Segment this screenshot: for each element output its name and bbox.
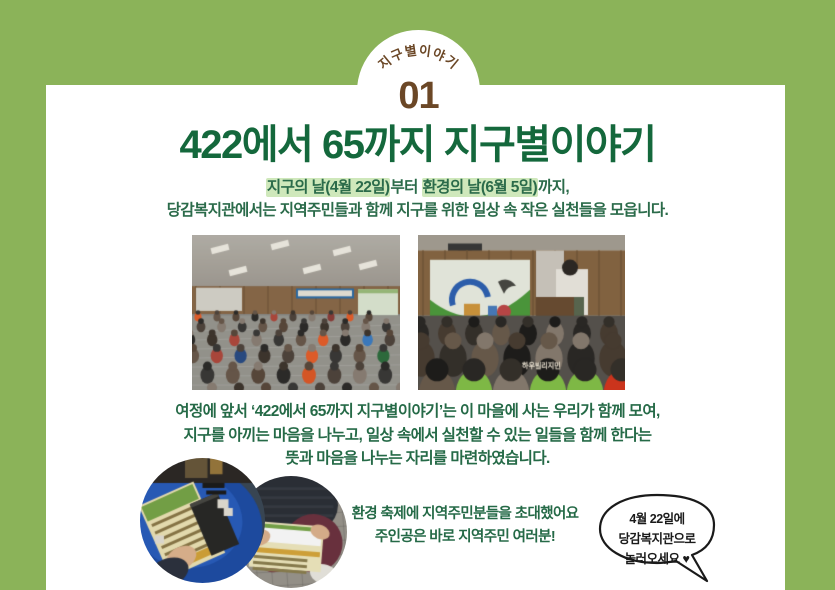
body-line-3: 뜻과 마음을 나누는 자리를 마련하였습니다. <box>0 447 835 471</box>
badge-arc-label: 지구별이야기 <box>375 43 461 73</box>
photo-auditorium-audience <box>192 235 400 390</box>
circle-photo-group <box>140 458 370 590</box>
caption-line-2: 주인공은 바로 지역주민 여러분! <box>330 526 600 549</box>
intro-line-2: 당감복지관에서는 지역주민들과 함께 지구를 위한 일상 속 작은 실천들을 모… <box>0 199 835 222</box>
body-line-2: 지구를 아끼는 마음을 나누고, 일상 속에서 실천할 수 있는 일들을 함께 … <box>0 424 835 448</box>
bottom-caption: 환경 축제에 지역주민분들을 초대했어요 주인공은 바로 지역주민 여러분! <box>330 503 600 549</box>
body-paragraph: 여정에 앞서 ‘422에서 65까지 지구별이야기’는 이 마을에 사는 우리가… <box>0 400 835 471</box>
photo-row <box>0 235 835 391</box>
poster-canvas: 지구별이야기 01 422에서 65까지 지구별이야기 지구의 날(4월 22일… <box>0 0 835 590</box>
intro-line1-mid: 부터 <box>390 179 421 196</box>
caption-line-1: 환경 축제에 지역주민분들을 초대했어요 <box>330 503 600 526</box>
intro-block: 지구의 날(4월 22일)부터 환경의 날(6월 5일)까지, 당감복지관에서는… <box>0 176 835 222</box>
intro-highlight-earthday: 지구의 날(4월 22일) <box>266 178 391 197</box>
photo-speaker-presentation <box>418 235 625 390</box>
speech-bubble-text: 4월 22일에 당감복지관으로 놀러오세요 ♥ <box>598 509 716 569</box>
bubble-line-2: 당감복지관으로 <box>598 529 716 549</box>
bubble-line-3: 놀러오세요 ♥ <box>598 549 716 569</box>
intro-highlight-envday: 환경의 날(6월 5일) <box>422 178 539 197</box>
intro-line-1: 지구의 날(4월 22일)부터 환경의 날(6월 5일)까지, <box>0 176 835 199</box>
speech-bubble: 4월 22일에 당감복지관으로 놀러오세요 ♥ <box>598 493 733 590</box>
circle-photo-blue-table-flyers <box>140 458 265 583</box>
svg-text:지구별이야기: 지구별이야기 <box>375 43 461 73</box>
intro-line1-post: 까지, <box>538 179 569 196</box>
page-title: 422에서 65까지 지구별이야기 <box>0 112 835 170</box>
bubble-line-1: 4월 22일에 <box>598 509 716 529</box>
body-line-1: 여정에 앞서 ‘422에서 65까지 지구별이야기’는 이 마을에 사는 우리가… <box>0 400 835 424</box>
